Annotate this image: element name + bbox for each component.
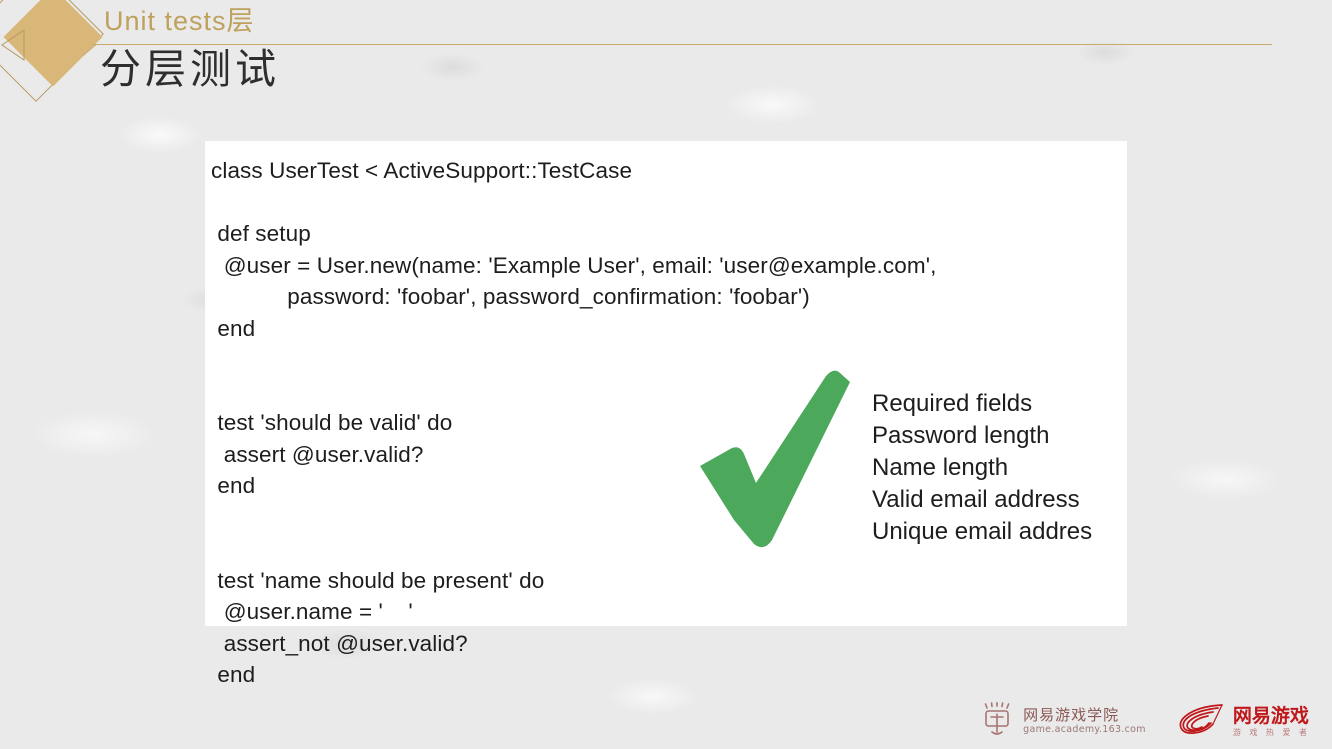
netease-game-academy-logo: 网易游戏学院 game.academy.163.com: [980, 702, 1146, 741]
validation-list: Required fields Password length Name len…: [872, 388, 1092, 548]
academy-logo-title: 网易游戏学院: [1023, 707, 1146, 724]
academy-logo-subtitle: game.academy.163.com: [1023, 724, 1146, 735]
list-item: Valid email address: [872, 484, 1092, 516]
games-logo-text: 网易游戏 游 戏 热 爱 者: [1233, 706, 1310, 737]
code-panel: class UserTest < ActiveSupport::TestCase…: [205, 141, 1127, 626]
netease-swoosh-icon: [1172, 702, 1224, 741]
games-logo-title: 网易游戏: [1233, 706, 1310, 728]
academy-logo-text: 网易游戏学院 game.academy.163.com: [1023, 707, 1146, 736]
green-check-icon: [694, 370, 856, 550]
list-item: Required fields: [872, 388, 1092, 420]
slide-canvas: Unit tests层 分层测试 class UserTest < Active…: [0, 0, 1332, 749]
list-item: Name length: [872, 452, 1092, 484]
footer-logos: 网易游戏学院 game.academy.163.com 网易游戏: [980, 702, 1310, 741]
games-logo-subtitle: 游 戏 热 爱 者: [1233, 728, 1310, 738]
slide-eyebrow: Unit tests层: [104, 8, 255, 35]
triangle-outline-icon: [2, 28, 24, 60]
list-item: Password length: [872, 420, 1092, 452]
academy-mark-icon: [980, 702, 1014, 741]
netease-games-logo: 网易游戏 游 戏 热 爱 者: [1172, 702, 1310, 741]
list-item: Unique email addres: [872, 516, 1092, 548]
page-title: 分层测试: [100, 48, 280, 91]
